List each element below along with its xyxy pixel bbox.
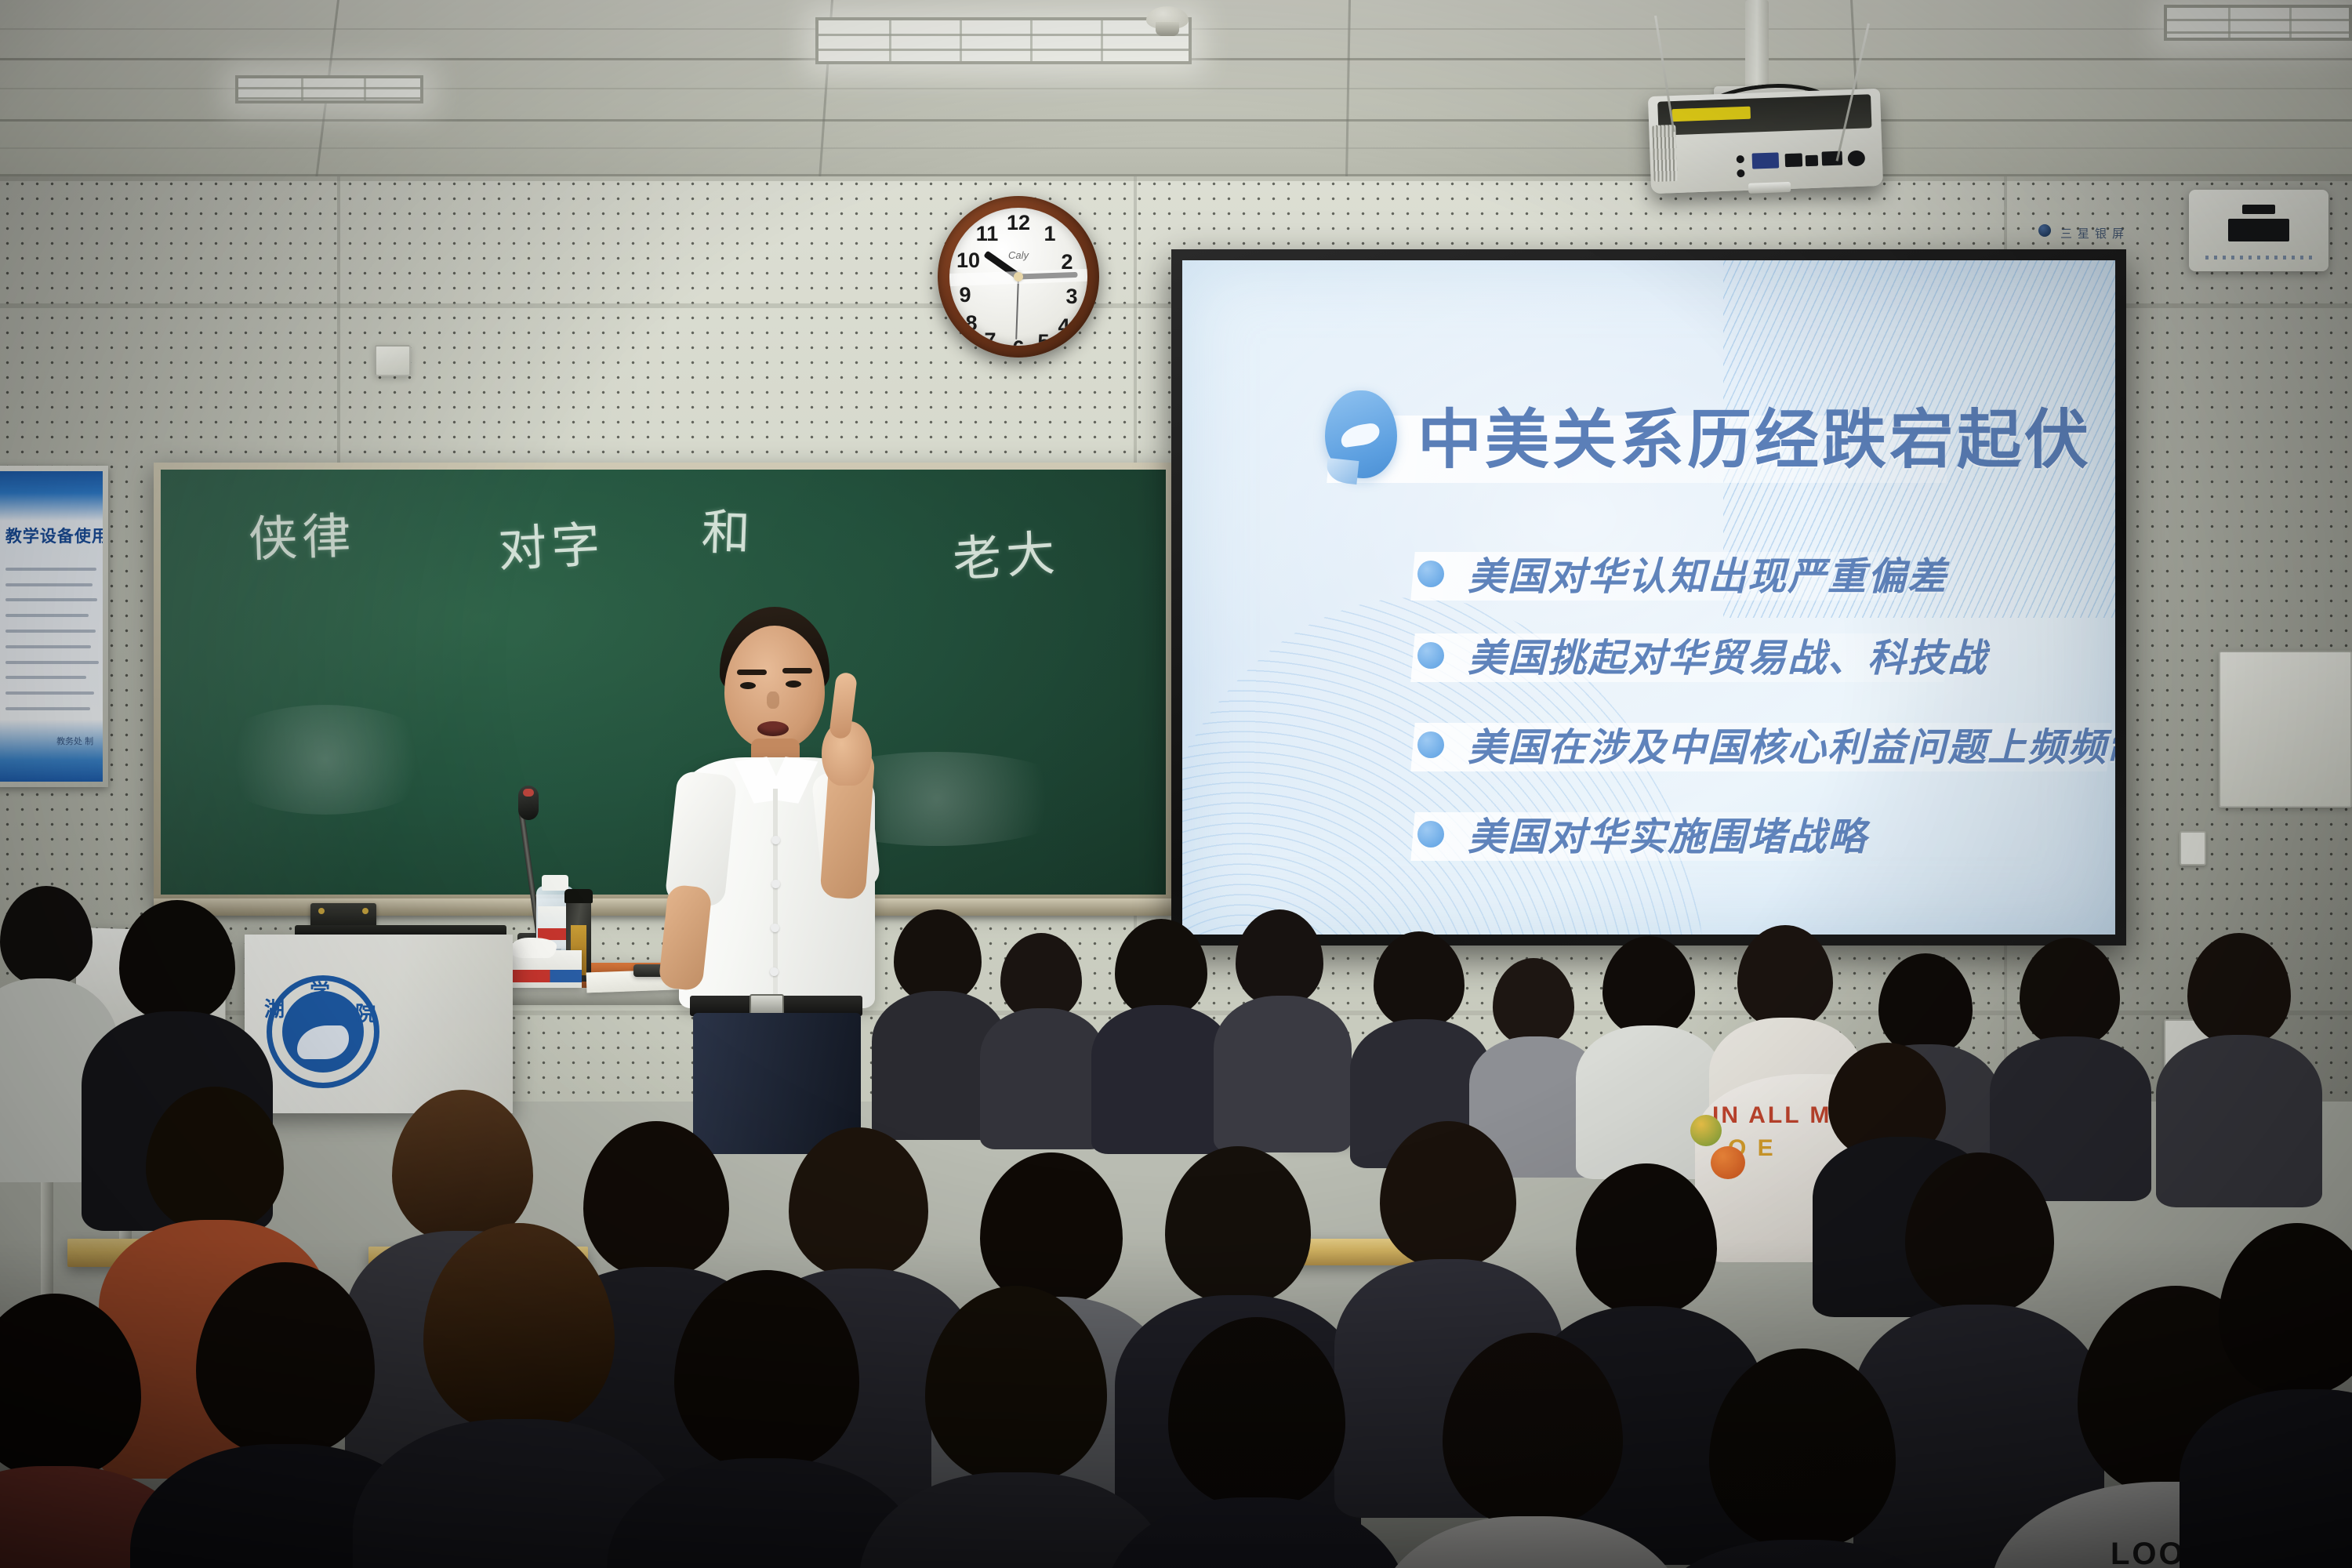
- clock-minute-hand: [1018, 272, 1077, 280]
- blue-droplet-logo-icon: [1325, 390, 1397, 478]
- wall-outlet[interactable]: [2180, 831, 2206, 866]
- slide-bullet-text: 美国挑起对华贸易战、科技战: [1468, 627, 1987, 683]
- slide-bullet-item: 美国在涉及中国核心利益问题上频频制造事端: [1417, 717, 2115, 772]
- university-seal: 湖 学 院: [267, 975, 379, 1088]
- clock-numeral: 2: [1051, 252, 1083, 273]
- bullet-dot-icon: [1417, 731, 1444, 758]
- microphone-head: [518, 786, 539, 820]
- wall-clock: Caly 12 1 2 3 4 5 6 7 8 9 10 11: [938, 196, 1099, 358]
- slide-title: 中美关系历经跌宕起伏: [1417, 387, 2092, 481]
- bullet-dot-icon: [1417, 642, 1444, 669]
- tissue-sheet: [510, 938, 557, 958]
- slide-bullet-text: 美国在涉及中国核心利益问题上频频制造事端: [1468, 717, 2115, 772]
- clock-numeral: 11: [971, 223, 1003, 245]
- projection-screen: 中美关系历经跌宕起伏 美国对华认知出现严重偏差 美国挑起对华贸易战、科技战 美国…: [1182, 260, 2115, 935]
- smoke-detector-icon: [1146, 6, 1189, 30]
- clock-numeral: 10: [953, 250, 984, 271]
- chalk-writing: 对字: [496, 505, 607, 581]
- wall-whiteboard-panel: [2219, 651, 2352, 808]
- lectern-podium: 湖 学 院: [245, 935, 513, 1113]
- clock-numeral: 8: [956, 313, 987, 334]
- projection-screen-frame: 中美关系历经跌宕起伏 美国对华认知出现严重偏差 美国挑起对华贸易战、科技战 美国…: [1171, 249, 2126, 946]
- poster-signature: 教务处 制: [56, 735, 93, 747]
- poster-title: 教学设备使用规程: [5, 524, 100, 547]
- bottle-cap[interactable]: [542, 875, 568, 891]
- chalk-writing: 侠律: [247, 496, 356, 571]
- projector-lens: [1748, 182, 1791, 193]
- clock-second-hand: [1015, 277, 1019, 339]
- clock-numeral: 6: [1003, 338, 1034, 346]
- chalk-writing: 老大: [950, 513, 1062, 590]
- regulations-poster: 教学设备使用规程 教务处 制: [0, 466, 108, 787]
- bullet-dot-icon: [1417, 561, 1444, 587]
- slide-bullet-item: 美国挑起对华贸易战、科技战: [1417, 627, 1987, 683]
- bullet-dot-icon: [1417, 821, 1444, 848]
- seal-character: 院: [355, 998, 376, 1027]
- slide-bullet-text: 美国对华实施围堵战略: [1468, 806, 1867, 862]
- slide-bullet-item: 美国对华实施围堵战略: [1417, 806, 1867, 862]
- wall-speaker-panel[interactable]: [2189, 190, 2328, 271]
- clock-numeral: 12: [1003, 212, 1034, 234]
- chalk-writing: 和: [700, 492, 756, 564]
- ceiling-light-fixture: [815, 17, 1192, 64]
- ceiling: [0, 0, 2352, 180]
- slide-bullet-item: 美国对华认知出现严重偏差: [1417, 546, 1947, 601]
- lecturing-professor: [655, 604, 938, 1043]
- slide-bullet-text: 美国对华认知出现严重偏差: [1468, 546, 1947, 601]
- wall-plate: [375, 345, 411, 376]
- projector-mount-pole: [1745, 0, 1769, 94]
- clock-numeral: 9: [949, 285, 981, 306]
- clock-numeral: 1: [1034, 223, 1065, 245]
- clock-numeral: 3: [1056, 286, 1087, 307]
- seal-character: 学: [310, 976, 330, 1005]
- slide-title-row: 中美关系历经跌宕起伏: [1325, 387, 2092, 481]
- ceiling-light-fixture: [235, 75, 423, 103]
- seal-character: 湖: [264, 993, 285, 1022]
- thermos-cap[interactable]: [564, 889, 593, 903]
- screen-brand-label: 三星银屏: [2060, 225, 2129, 241]
- clock-center-pin: [1014, 272, 1023, 281]
- clock-brand-label: Caly: [1008, 249, 1029, 261]
- samsung-logo-icon: [2038, 224, 2051, 237]
- classroom-scene: 教学设备使用规程 教务处 制 Caly 12 1 2 3 4 5 6 7 8: [0, 0, 2352, 1568]
- ceiling-light-fixture: [2164, 5, 2352, 41]
